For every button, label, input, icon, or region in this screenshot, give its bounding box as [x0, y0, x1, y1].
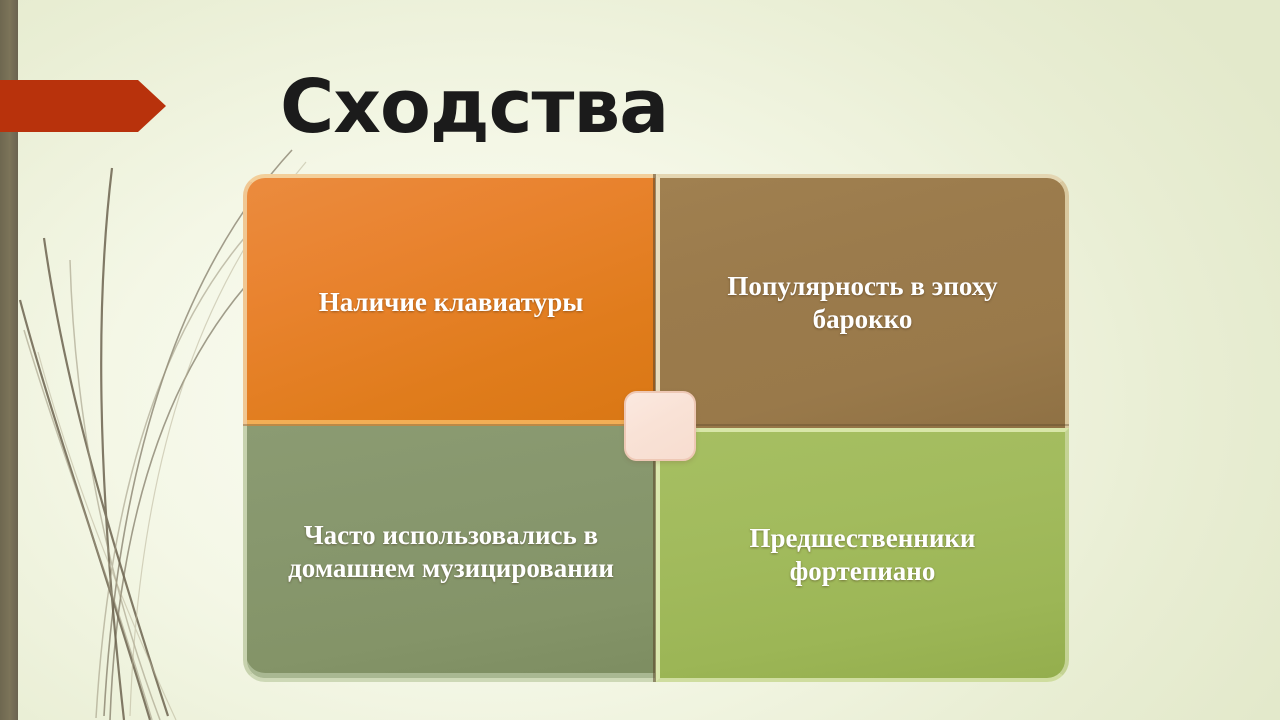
page-title: Сходства [280, 69, 668, 145]
quadrant-bottom-left-label: Часто использовались в домашнем музициро… [265, 519, 637, 585]
quadrant-bottom-left[interactable]: Часто использовались в домашнем музициро… [243, 426, 655, 682]
quadrant-bottom-right-label: Предшественники фортепиано [678, 522, 1047, 588]
presentation-slide: Сходства Наличие клавиатуры Популярность… [0, 0, 1280, 720]
quadrant-top-right-label: Популярность в эпоху барокко [678, 270, 1047, 336]
quadrant-top-right[interactable]: Популярность в эпоху барокко [655, 174, 1069, 428]
matrix-center-node[interactable] [624, 391, 696, 461]
quadrant-bottom-right[interactable]: Предшественники фортепиано [655, 428, 1069, 682]
quadrant-top-left[interactable]: Наличие клавиатуры [243, 174, 655, 426]
red-arrow-banner [0, 80, 166, 132]
quadrant-top-left-label: Наличие клавиатуры [265, 286, 637, 319]
